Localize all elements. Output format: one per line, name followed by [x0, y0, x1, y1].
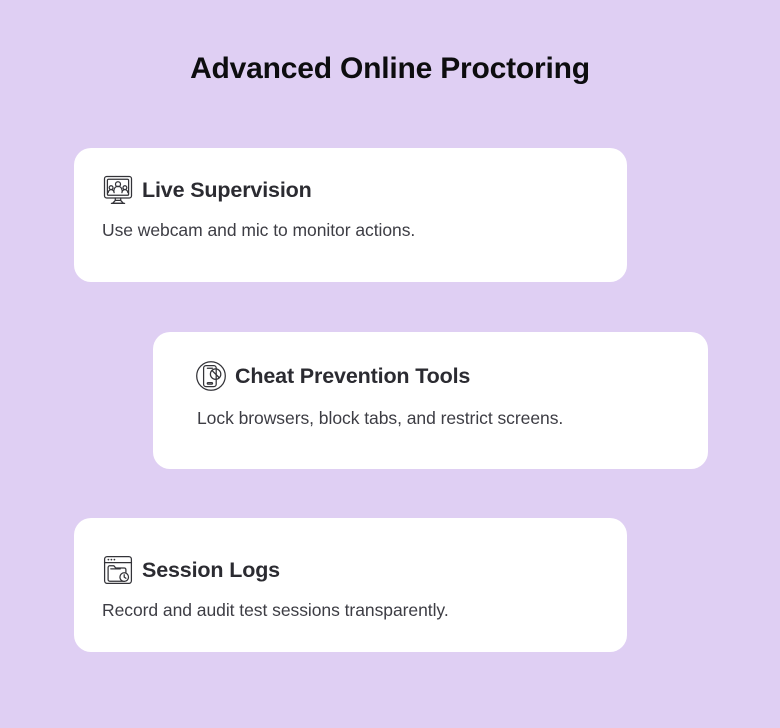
feature-card-cheat-prevention: Cheat Prevention Tools Lock browsers, bl…	[153, 332, 708, 469]
card-header: Session Logs	[102, 554, 280, 586]
card-title: Session Logs	[142, 558, 280, 583]
phone-prohibited-circle-icon	[195, 360, 227, 392]
card-description: Record and audit test sessions transpare…	[102, 600, 449, 621]
card-header: Live Supervision	[102, 174, 312, 206]
card-title: Live Supervision	[142, 178, 312, 203]
card-description: Use webcam and mic to monitor actions.	[102, 220, 415, 241]
card-header: Cheat Prevention Tools	[195, 360, 470, 392]
monitor-video-conference-icon	[102, 174, 134, 206]
feature-card-session-logs: Session Logs Record and audit test sessi…	[74, 518, 627, 652]
page-title: Advanced Online Proctoring	[0, 52, 780, 86]
browser-folder-clock-icon	[102, 554, 134, 586]
feature-card-live-supervision: Live Supervision Use webcam and mic to m…	[74, 148, 627, 282]
card-description: Lock browsers, block tabs, and restrict …	[197, 408, 563, 429]
card-title: Cheat Prevention Tools	[235, 364, 470, 389]
